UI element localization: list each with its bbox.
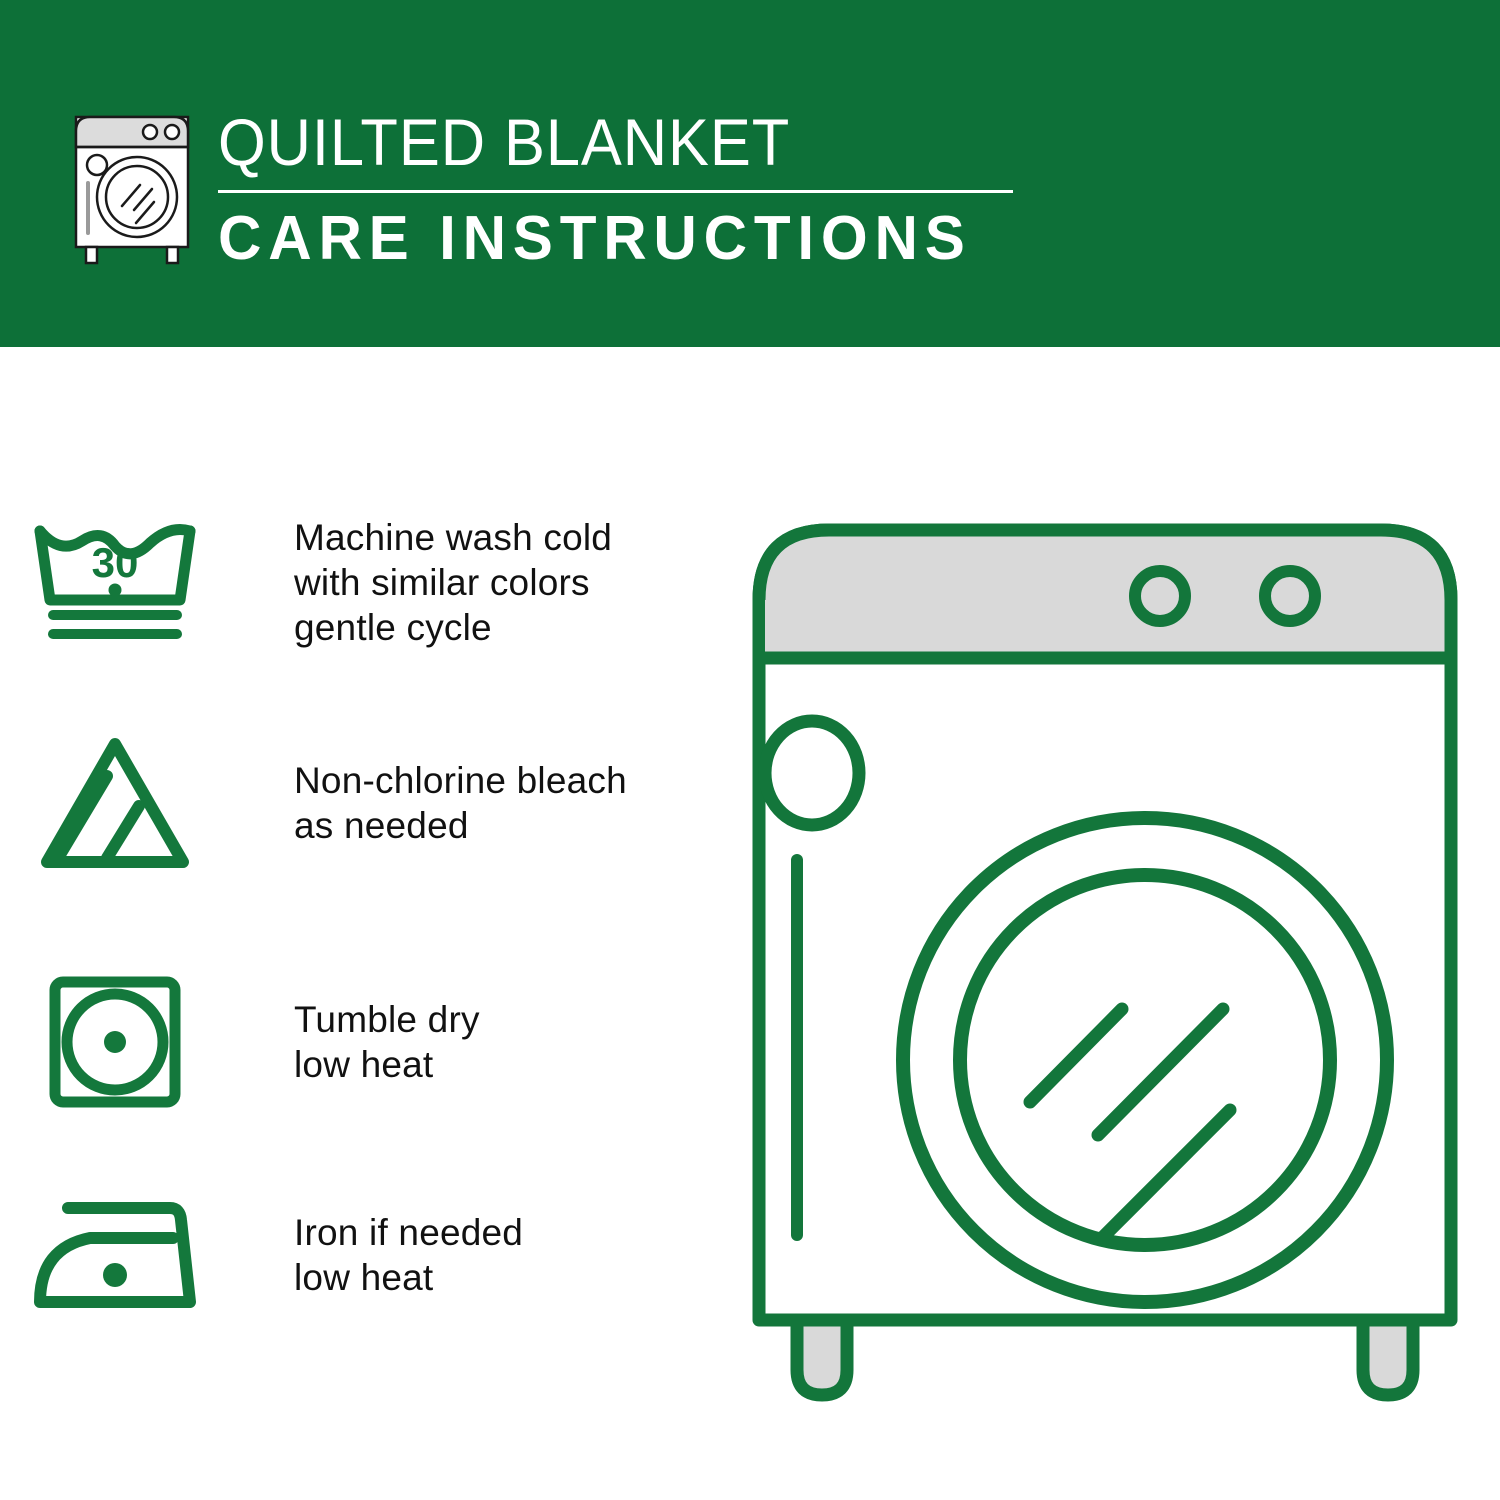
- washing-machine-icon: [62, 105, 202, 265]
- care-text-machine-wash: Machine wash cold with similar colors ge…: [230, 515, 612, 650]
- machine-wash-30-gentle-icon: 30: [0, 515, 230, 650]
- care-row-bleach: Non-chlorine bleach as needed: [0, 732, 740, 874]
- iron-low-heat-icon: [0, 1192, 230, 1317]
- non-chlorine-bleach-icon: [0, 732, 230, 874]
- care-text-tumble-dry: Tumble dry low heat: [230, 997, 480, 1087]
- care-text-line: low heat: [294, 1255, 523, 1300]
- title-divider: [218, 190, 1013, 193]
- page-title: QUILTED BLANKET: [218, 103, 962, 181]
- front-load-washing-machine-illustration: [745, 490, 1465, 1430]
- tumble-dry-low-icon: [0, 972, 230, 1112]
- care-text-line: as needed: [294, 803, 627, 848]
- care-instruction-list: 30 Machine wash cold with similar colors…: [0, 347, 740, 1500]
- care-text-line: Non-chlorine bleach: [294, 758, 627, 803]
- title-block: QUILTED BLANKET CARE INSTRUCTIONS: [218, 103, 1018, 275]
- control-panel: [765, 536, 1445, 658]
- header-banner: QUILTED BLANKET CARE INSTRUCTIONS: [0, 0, 1500, 347]
- care-text-line: gentle cycle: [294, 605, 612, 650]
- care-text-line: Tumble dry: [294, 997, 480, 1042]
- care-row-machine-wash: 30 Machine wash cold with similar colors…: [0, 515, 740, 650]
- control-knob: [1265, 571, 1315, 621]
- care-row-iron: Iron if needed low heat: [0, 1192, 740, 1317]
- care-text-line: Machine wash cold: [294, 515, 612, 560]
- detergent-indicator: [765, 721, 859, 825]
- machine-leg: [1363, 1320, 1413, 1395]
- page-subtitle: CARE INSTRUCTIONS: [218, 203, 994, 275]
- care-text-line: low heat: [294, 1042, 480, 1087]
- care-row-tumble-dry: Tumble dry low heat: [0, 972, 740, 1112]
- care-text-line: Iron if needed: [294, 1210, 523, 1255]
- care-text-iron: Iron if needed low heat: [230, 1210, 523, 1300]
- care-text-bleach: Non-chlorine bleach as needed: [230, 758, 627, 848]
- wash-temperature-label: 30: [92, 539, 139, 586]
- machine-leg: [797, 1320, 847, 1395]
- care-text-line: with similar colors: [294, 560, 612, 605]
- control-knob: [1135, 571, 1185, 621]
